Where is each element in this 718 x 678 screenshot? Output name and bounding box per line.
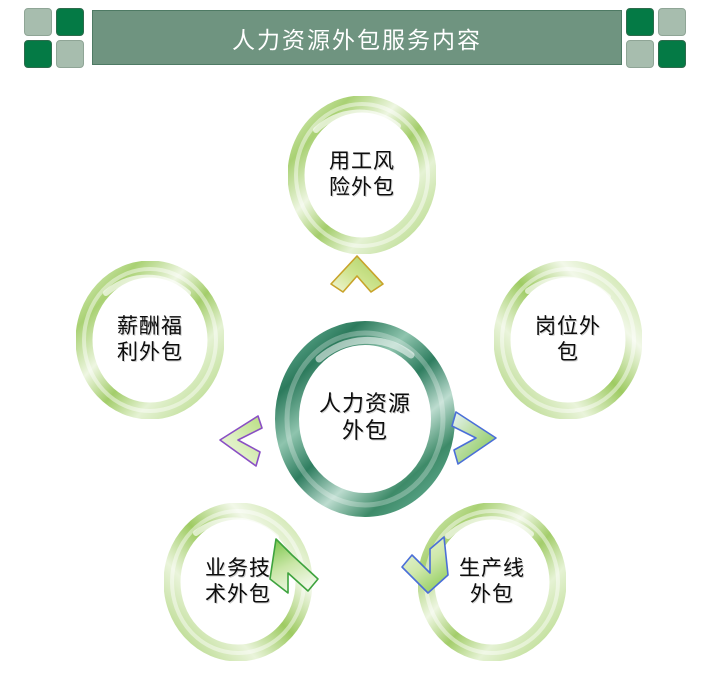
deco-square-bottom-left	[626, 40, 654, 68]
node-hr-outsourcing-center[interactable]: 人力资源 外包	[275, 321, 455, 517]
deco-square-top-right	[56, 8, 84, 36]
chevron-left-icon	[206, 408, 270, 472]
ring-shape	[494, 261, 642, 419]
node-position-outsourcing[interactable]: 岗位外 包	[494, 261, 642, 419]
deco-square-bottom-left	[24, 40, 52, 68]
hub-and-spoke-diagram: 用工风 险外包 岗位外 包 薪酬福 利外包	[0, 78, 718, 678]
deco-square-top-right	[658, 8, 686, 36]
header-decoration-right	[626, 8, 688, 68]
node-labor-risk-outsourcing[interactable]: 用工风 险外包	[288, 96, 436, 254]
deco-square-top-left	[626, 8, 654, 36]
page-title: 人力资源外包服务内容	[232, 21, 482, 55]
ring-shape	[76, 261, 224, 419]
header-decoration-left	[24, 8, 86, 68]
node-compensation-benefits-outsourcing[interactable]: 薪酬福 利外包	[76, 261, 224, 419]
chevron-right-icon	[444, 406, 508, 470]
chevron-up-icon	[325, 248, 389, 312]
chevron-down-left-icon	[258, 533, 330, 605]
chevron-down-right-icon	[392, 531, 464, 603]
deco-square-bottom-right	[56, 40, 84, 68]
page-header: 人力资源外包服务内容	[0, 0, 718, 78]
title-banner: 人力资源外包服务内容	[92, 10, 622, 65]
ring-shape	[275, 321, 455, 517]
ring-shape	[288, 96, 436, 254]
deco-square-top-left	[24, 8, 52, 36]
deco-square-bottom-right	[658, 40, 686, 68]
